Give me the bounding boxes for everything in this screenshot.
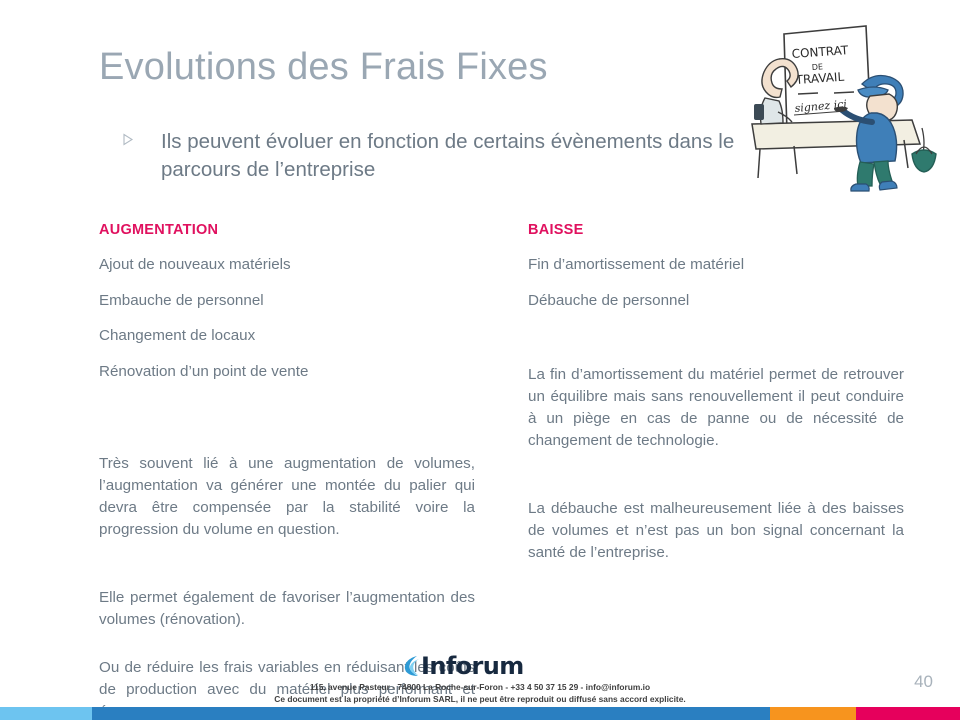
wave-swoosh-icon: [404, 655, 420, 677]
paragraph: La débauche est malheureusement liée à d…: [528, 498, 904, 564]
slide-canvas: Evolutions des Frais Fixes Ils peuvent é…: [0, 0, 960, 720]
intro-bullet-text: Ils peuvent évoluer en fonction de certa…: [161, 128, 747, 185]
bar-segment-light-blue: [0, 707, 92, 720]
spacer: [528, 326, 904, 364]
list-item: Ajout de nouveaux matériels: [99, 255, 475, 276]
list-item: Rénovation d’un point de vente: [99, 362, 475, 383]
paragraph: Elle permet également de favoriser l’aug…: [99, 587, 475, 631]
page-number: 40: [914, 672, 933, 692]
bar-segment-pink: [856, 707, 960, 720]
list-item: Débauche de personnel: [528, 291, 904, 312]
footer-legal: Ce document est la propriété d’Inforum S…: [0, 694, 960, 706]
page-title: Evolutions des Frais Fixes: [99, 46, 548, 89]
bottom-color-bar: [0, 707, 960, 720]
bar-segment-blue: [92, 707, 770, 720]
logo-wordmark: Inforum: [421, 654, 524, 678]
spacer: [528, 452, 904, 498]
inforum-logo: Inforum: [404, 654, 524, 678]
column-baisse: BAISSE Fin d’amortissement de matériel D…: [528, 222, 904, 564]
list-item: Changement de locaux: [99, 326, 475, 347]
list-item: Embauche de personnel: [99, 291, 475, 312]
footer-legal-block: 115, avenue Pasteur - 74800 La Roche-sur…: [0, 682, 960, 705]
bar-segment-orange: [770, 707, 856, 720]
paragraph: La fin d’amortissement du matériel perme…: [528, 364, 904, 452]
spacer: [99, 397, 475, 453]
column-augmentation: AUGMENTATION Ajout de nouveaux matériels…: [99, 222, 475, 720]
footer-address: 115, avenue Pasteur - 74800 La Roche-sur…: [0, 682, 960, 694]
column-heading-augmentation: AUGMENTATION: [99, 222, 475, 238]
triangle-right-bullet-icon: [122, 133, 136, 146]
list-item: Fin d’amortissement de matériel: [528, 255, 904, 276]
employment-contract-signing-illustration: CONTRAT DE TRAVAIL signez ici: [734, 12, 956, 194]
intro-bullet: Ils peuvent évoluer en fonction de certa…: [122, 128, 747, 185]
column-heading-baisse: BAISSE: [528, 222, 904, 238]
paragraph: Très souvent lié à une augmentation de v…: [99, 453, 475, 541]
spacer: [99, 541, 475, 587]
